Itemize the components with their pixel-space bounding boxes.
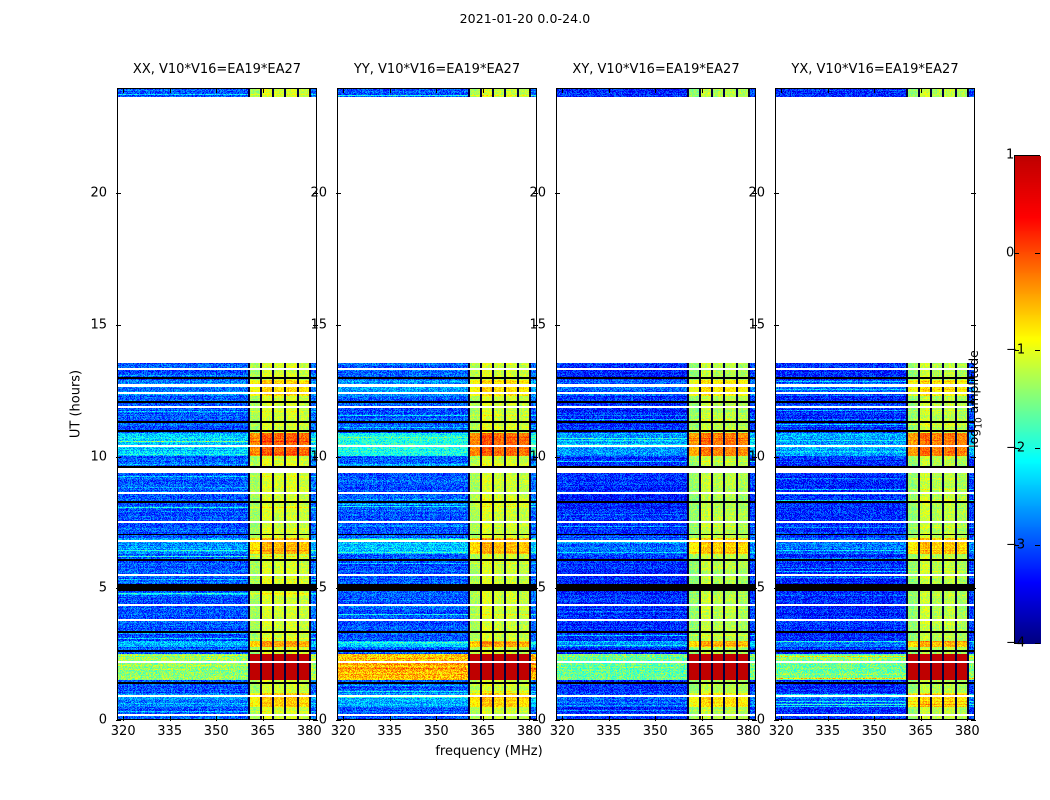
y-tick [336,457,341,458]
colorbar-tick [1014,253,1019,254]
panel-title-yy: YY, V10*V16=EA19*EA27 [354,62,520,77]
x-tick-label: 365 [689,724,714,739]
x-tick [921,716,922,721]
x-tick [655,716,656,721]
y-tick [774,588,779,589]
x-tick-top [170,88,171,93]
y-tick [116,457,121,458]
y-tick-label: 10 [748,449,765,464]
y-tick-label: 10 [529,449,546,464]
spectrogram-image-yy [338,89,537,720]
panel-title-xx: XX, V10*V16=EA19*EA27 [133,62,301,77]
y-tick-right [313,588,318,589]
x-tick [123,716,124,721]
x-tick-top [436,88,437,93]
colorbar-label-sub: 10 [974,417,984,428]
x-tick [781,716,782,721]
x-tick-top [216,88,217,93]
x-tick [874,716,875,721]
colorbar-tick-right [1035,545,1040,546]
x-tick-top [123,88,124,93]
y-tick [555,325,560,326]
y-tick-label: 20 [90,186,107,201]
x-tick-label: 365 [250,724,275,739]
y-tick-label: 20 [529,186,546,201]
colorbar-label-tail: amplitude [966,350,981,417]
y-tick [555,457,560,458]
x-tick-label: 335 [377,724,402,739]
x-tick [390,716,391,721]
spectrogram-image-xy [557,89,756,720]
colorbar-label-base: log [966,429,981,448]
y-tick [116,588,121,589]
x-tick [263,716,264,721]
y-tick [555,588,560,589]
x-tick-label: 350 [643,724,668,739]
y-tick-label: 5 [99,581,107,596]
x-tick-top [390,88,391,93]
x-tick [967,716,968,721]
y-tick [774,325,779,326]
x-tick-top [562,88,563,93]
x-tick-label: 320 [550,724,575,739]
y-tick-right [971,457,976,458]
x-tick [309,716,310,721]
y-tick [116,720,121,721]
y-tick [555,193,560,194]
x-tick-top [702,88,703,93]
spectrogram-image-xx [118,89,317,720]
x-tick-top [529,88,530,93]
y-tick [336,325,341,326]
y-tick [116,325,121,326]
x-tick-top [781,88,782,93]
y-tick-label: 10 [310,449,327,464]
y-tick-right [971,588,976,589]
spectrogram-panel-yy: YY, V10*V16=EA19*EA273203353503653800510… [337,88,537,720]
y-tick [555,720,560,721]
x-tick [702,716,703,721]
x-tick-label: 365 [470,724,495,739]
axes-frame-yy [337,88,537,720]
y-tick-label: 0 [99,713,107,728]
x-tick [609,716,610,721]
axes-frame-xx [117,88,317,720]
x-tick [343,716,344,721]
y-tick-label: 15 [748,318,765,333]
spectrogram-panel-xx: XX, V10*V16=EA19*EA273203353503653800510… [117,88,317,720]
colorbar-tick-right [1035,155,1040,156]
colorbar-tick [1014,155,1019,156]
x-tick-label: 365 [908,724,933,739]
x-tick-top [874,88,875,93]
colorbar-tick-right [1035,253,1040,254]
x-tick-top [343,88,344,93]
colorbar-gradient [1015,156,1041,644]
x-tick [170,716,171,721]
y-tick [336,193,341,194]
x-tick [483,716,484,721]
panel-title-xy: XY, V10*V16=EA19*EA27 [572,62,739,77]
axes-frame-yx [775,88,975,720]
y-tick-label: 15 [310,318,327,333]
x-tick-top [609,88,610,93]
y-tick-right [971,720,976,721]
x-tick-label: 320 [111,724,136,739]
x-tick-top [921,88,922,93]
figure-canvas: 2021-01-20 0.0-24.0 XX, V10*V16=EA19*EA2… [0,0,1050,800]
y-tick-label: 15 [529,318,546,333]
x-tick-label: 320 [769,724,794,739]
axes-frame-xy [556,88,756,720]
y-axis-label: UT (hours) [69,370,84,438]
y-tick-label: 0 [538,713,546,728]
y-tick [336,720,341,721]
spectrogram-panel-yx: YX, V10*V16=EA19*EA273203353503653800510… [775,88,975,720]
y-tick-label: 0 [757,713,765,728]
y-tick [774,457,779,458]
x-tick-top [309,88,310,93]
colorbar-label: log10 amplitude [966,350,985,448]
y-tick [336,588,341,589]
x-tick-top [655,88,656,93]
y-tick [774,193,779,194]
y-tick-label: 5 [757,581,765,596]
x-tick [562,716,563,721]
y-tick-label: 15 [90,318,107,333]
x-tick [529,716,530,721]
colorbar-tick-right [1035,350,1040,351]
panel-title-yx: YX, V10*V16=EA19*EA27 [791,62,958,77]
x-tick-label: 350 [204,724,229,739]
x-tick [828,716,829,721]
y-tick-label: 5 [319,581,327,596]
x-axis-label: frequency (MHz) [435,744,542,759]
x-tick-label: 380 [955,724,980,739]
y-tick-label: 5 [538,581,546,596]
x-tick-top [483,88,484,93]
x-tick [216,716,217,721]
spectrogram-image-yx [776,89,975,720]
y-tick-label: 20 [310,186,327,201]
spectrogram-panel-xy: XY, V10*V16=EA19*EA273203353503653800510… [556,88,756,720]
x-tick [436,716,437,721]
y-tick-label: 10 [90,449,107,464]
x-tick-top [263,88,264,93]
x-tick-label: 335 [596,724,621,739]
x-tick-top [967,88,968,93]
figure-suptitle: 2021-01-20 0.0-24.0 [0,11,1050,26]
x-tick-label: 335 [815,724,840,739]
y-tick-right [971,325,976,326]
colorbar [1014,155,1040,643]
y-tick-right [971,193,976,194]
colorbar-tick-right [1035,643,1040,644]
y-tick-label: 20 [748,186,765,201]
y-tick-label: 0 [319,713,327,728]
x-tick-label: 350 [424,724,449,739]
x-tick-top [748,88,749,93]
x-tick-label: 350 [862,724,887,739]
x-tick [748,716,749,721]
x-tick-top [828,88,829,93]
x-tick-label: 335 [157,724,182,739]
y-tick [116,193,121,194]
y-tick [774,720,779,721]
colorbar-tick-right [1035,448,1040,449]
y-tick-right [313,720,318,721]
x-tick-label: 320 [331,724,356,739]
